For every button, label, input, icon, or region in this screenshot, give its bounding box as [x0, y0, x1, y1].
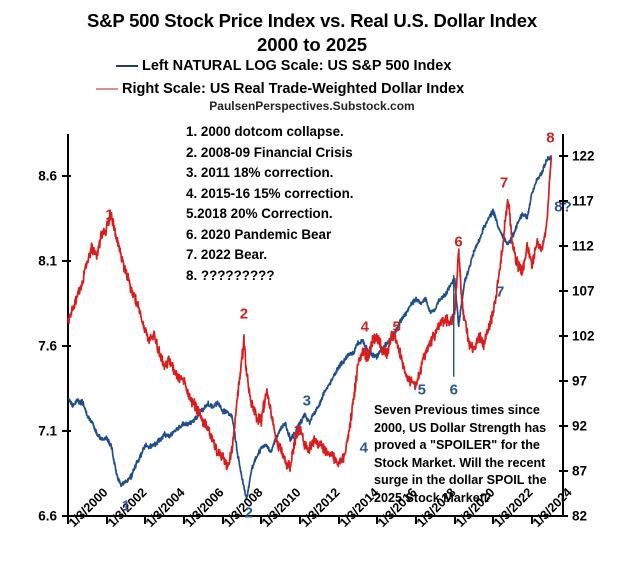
- chart-title-line2: 2000 to 2025: [0, 34, 624, 56]
- y-tick-left-1: [62, 430, 71, 432]
- y-axis-label-left-4: 8.6: [0, 169, 57, 184]
- point-label-annotations_blue-5: 5: [418, 382, 426, 399]
- y-tick-left-4: [62, 175, 71, 177]
- y-tick-right-6: [559, 245, 568, 247]
- y-axis-label-right-1: 87: [572, 464, 624, 479]
- y-tick-left-2: [62, 345, 71, 347]
- y-tick-right-0: [559, 515, 568, 517]
- y-tick-right-3: [559, 380, 568, 382]
- point-label-annotations_red-3: 3: [294, 422, 302, 439]
- point-label-annotations_red-2: 2: [240, 305, 248, 322]
- y-axis-label-right-2: 92: [572, 419, 624, 434]
- y-tick-right-5: [559, 290, 568, 292]
- y-axis-label-left-1: 7.1: [0, 424, 57, 439]
- point-label-annotations_red-4: 4: [361, 319, 369, 336]
- legend-label-sp500: Left NATURAL LOG Scale: US S&P 500 Index: [142, 58, 451, 74]
- legend-entry-dollar: Right Scale: US Real Trade-Weighted Doll…: [96, 81, 464, 97]
- point-label-annotations_red-1: 1: [105, 206, 113, 223]
- y-axis-label-right-8: 122: [572, 149, 624, 164]
- point-label-annotations_blue-8q: 8?: [554, 199, 572, 216]
- y-axis-label-left-0: 6.6: [0, 509, 57, 524]
- y-axis-label-right-0: 82: [572, 509, 624, 524]
- y-tick-right-4: [559, 335, 568, 337]
- y-axis-label-left-3: 8.1: [0, 254, 57, 269]
- chart-title-line1: S&P 500 Stock Price Index vs. Real U.S. …: [0, 10, 624, 32]
- y-axis-label-right-3: 97: [572, 374, 624, 389]
- point-label-annotations_blue-7: 7: [496, 283, 504, 300]
- y-axis-label-right-6: 112: [572, 239, 624, 254]
- legend-label-dollar: Right Scale: US Real Trade-Weighted Doll…: [122, 81, 464, 97]
- legend-swatch-red-icon: [96, 88, 118, 90]
- point-label-annotations_blue-2: 2: [245, 504, 253, 521]
- point-label-annotations_blue-6: 6: [450, 382, 458, 399]
- point-label-annotations_red-8: 8: [546, 130, 554, 147]
- y-tick-left-3: [62, 260, 71, 262]
- y-tick-right-2: [559, 425, 568, 427]
- point-label-annotations_red-6: 6: [454, 233, 462, 250]
- legend-entry-sp500: Left NATURAL LOG Scale: US S&P 500 Index: [116, 58, 451, 74]
- chart-container: S&P 500 Stock Price Index vs. Real U.S. …: [0, 0, 624, 581]
- y-tick-right-8: [559, 155, 568, 157]
- point-label-annotations_blue-1: 1: [122, 497, 130, 514]
- point-label-annotations_red-5: 5: [393, 319, 401, 336]
- y-axis-label-left-2: 7.6: [0, 339, 57, 354]
- source-attribution: PaulsenPerspectives.Substock.com: [0, 99, 624, 113]
- plot-area: 6.67.17.68.18.6828792971021071121171221/…: [68, 134, 563, 516]
- point-label-annotations_red-7: 7: [500, 175, 508, 192]
- legend-swatch-blue-icon: [116, 65, 138, 67]
- series-lines: [68, 134, 563, 516]
- y-axis-label-right-4: 102: [572, 329, 624, 344]
- point-label-annotations_blue-4: 4: [360, 440, 368, 457]
- y-tick-right-1: [559, 470, 568, 472]
- y-axis-label-right-7: 117: [572, 194, 624, 209]
- point-label-annotations_blue-3: 3: [303, 392, 311, 409]
- y-axis-label-right-5: 107: [572, 284, 624, 299]
